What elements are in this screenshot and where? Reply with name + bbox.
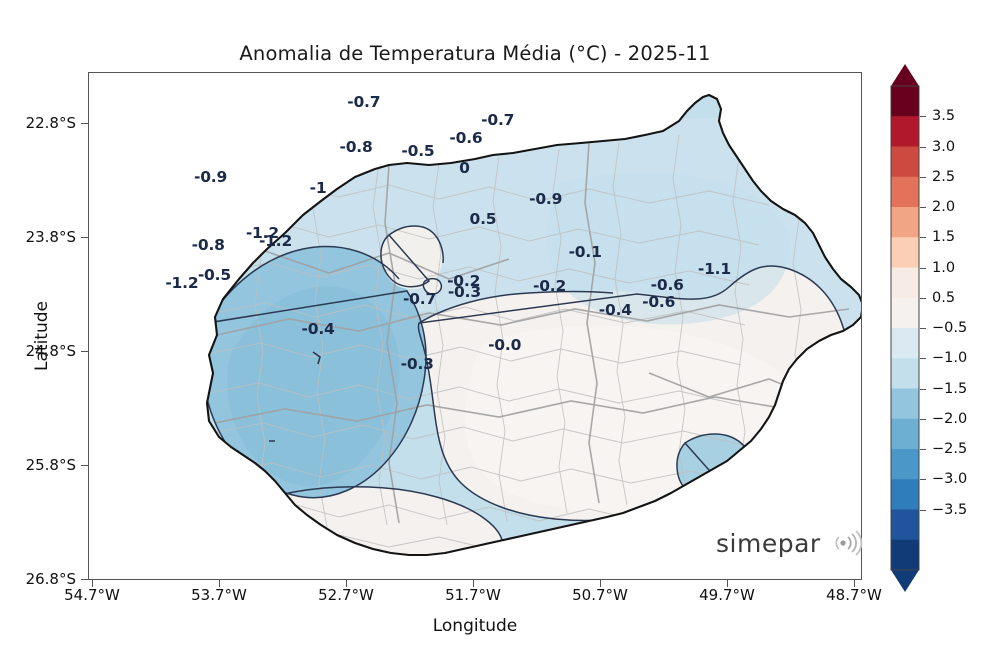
colorbar-band [891,207,919,238]
chart-title: Anomalia de Temperatura Média (°C) - 202… [0,42,950,65]
colorbar-band [891,237,919,268]
contour-label: -0.5 [401,142,434,160]
colorbar-tick [920,116,926,117]
colorbar-tick [920,449,926,450]
y-tick-label-3: 25.8°S [26,456,76,474]
colorbar-band [891,86,919,117]
contour-label: -0.6 [449,129,482,147]
colorbar-tick-label: 1.5 [932,229,955,245]
y-axis-title: Latitude [32,276,52,396]
colorbar-band [891,328,919,359]
contour-label: -1.1 [698,260,731,278]
colorbar-band [891,540,919,571]
colorbar-tick [920,389,926,390]
colorbar-band [891,116,919,147]
colorbar-tick-label: 3.5 [932,108,955,124]
x-tick-label-3: 51.7°W [445,586,501,604]
contour-label: -0.6 [642,293,675,311]
colorbar-tick-label: 0.5 [932,290,955,306]
colorbar-svg [888,62,922,594]
simepar-logo: simepar [716,528,864,558]
colorbar-tick [920,328,926,329]
x-tick-label-6: 48.7°W [826,586,882,604]
colorbar-band [891,419,919,450]
colorbar: 3.53.02.52.01.51.00.5−0.5−1.0−1.5−2.0−2.… [888,62,922,594]
colorbar-band [891,177,919,208]
figure-canvas: Anomalia de Temperatura Média (°C) - 202… [0,0,1000,666]
colorbar-tick [920,268,926,269]
map-axes: -0.7-0.5-0.7-0.6-0.80-0.9-1-0.90.5-0.8-1… [88,72,862,580]
colorbar-bands [891,86,919,571]
contour-label: -0.5 [198,266,231,284]
colorbar-tick-label: 2.5 [932,169,955,185]
colorbar-band [891,147,919,178]
contour-label: -0.2 [533,277,566,295]
colorbar-tick [920,207,926,208]
contour-label: -0.9 [529,190,562,208]
contour-label: -0.3 [401,355,434,373]
colorbar-tick-label: 2.0 [932,199,955,215]
colorbar-tick-label: −3.5 [932,502,967,518]
contour-label: -0.1 [569,243,602,261]
colorbar-tick [920,237,926,238]
colorbar-extend-min-arrow [891,570,919,592]
contour-label: -0.9 [194,168,227,186]
y-tick-label-1: 23.8°S [26,228,76,246]
colorbar-tick-label: −0.5 [932,320,967,336]
y-tick-label-0: 22.8°S [26,114,76,132]
x-tick-label-2: 52.7°W [318,586,374,604]
contour-label: -0.6 [651,276,684,294]
contour-label: -1 [310,179,327,197]
contour-label: -1.2 [165,274,198,292]
colorbar-tick [920,147,926,148]
colorbar-band [891,479,919,510]
signal-waves-icon [830,528,864,558]
contour-label: 0 [459,159,470,177]
simepar-wordmark: simepar [716,529,821,558]
colorbar-tick-label: −2.0 [932,411,967,427]
colorbar-tick [920,177,926,178]
colorbar-extend-max-arrow [891,64,919,86]
x-tick-label-0: 54.7°W [64,586,120,604]
colorbar-tick [920,298,926,299]
contour-label: -0.4 [599,301,632,319]
colorbar-tick-label: −2.5 [932,441,967,457]
contour-label: -0.0 [488,336,521,354]
colorbar-tick-label: −1.5 [932,381,967,397]
colorbar-tick [920,510,926,511]
contour-label: 0.5 [470,210,497,228]
contour-label: -0.8 [339,138,372,156]
colorbar-band [891,268,919,299]
colorbar-tick-label: −3.0 [932,471,967,487]
x-tick-label-5: 49.7°W [699,586,755,604]
x-tick-label-4: 50.7°W [572,586,628,604]
contour-label: -0.7 [347,93,380,111]
contour-label: -1.2 [259,232,292,250]
colorbar-band [891,510,919,541]
colorbar-tick [920,358,926,359]
colorbar-tick-label: −1.0 [932,350,967,366]
contour-label: -0.3 [448,283,481,301]
colorbar-tick [920,419,926,420]
contour-label: -0.7 [403,290,436,308]
colorbar-band [891,298,919,329]
x-tick-label-1: 53.7°W [191,586,247,604]
map-svg [89,73,862,580]
x-axis-title: Longitude [88,616,862,636]
colorbar-band [891,358,919,389]
colorbar-tick [920,479,926,480]
contour-label: -0.4 [302,320,335,338]
colorbar-tick-label: 1.0 [932,260,955,276]
colorbar-band [891,389,919,420]
colorbar-tick-label: 3.0 [932,139,955,155]
colorbar-band [891,449,919,480]
contour-label: -0.8 [192,236,225,254]
contour-label: -0.7 [481,111,514,129]
